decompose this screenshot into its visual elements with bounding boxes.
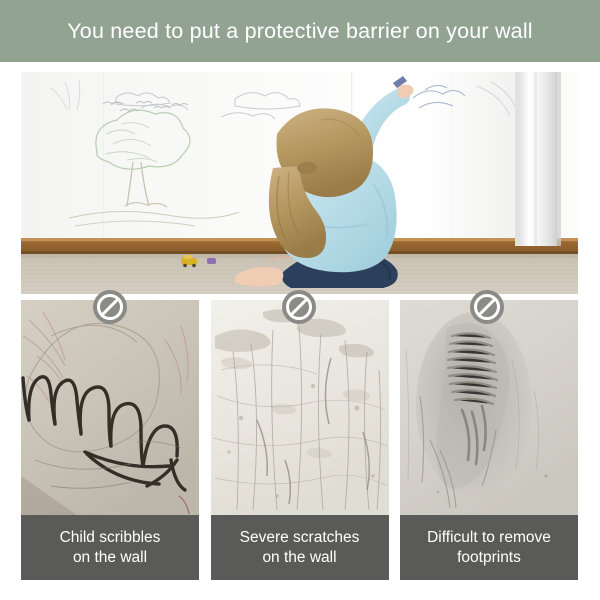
caption-line-1: Child scribbles	[60, 528, 161, 548]
child-scribbles-illustration	[21, 300, 199, 515]
child-drawing-on-wall-illustration	[21, 72, 578, 294]
damage-panel-child-scribbles: Child scribbles on the wall	[21, 300, 199, 580]
severe-scratches-illustration	[211, 300, 389, 515]
caption-line-2: on the wall	[262, 548, 336, 568]
promo-banner: You need to put a protective barrier on …	[0, 0, 600, 600]
caption-line-2: on the wall	[73, 548, 147, 568]
caption-line-1: Difficult to remove	[427, 528, 551, 548]
header-band: You need to put a protective barrier on …	[0, 0, 600, 62]
damage-panels-row: Child scribbles on the wall	[21, 300, 578, 580]
damage-panel-footprints: Difficult to remove footprints	[400, 300, 578, 580]
caption-line-2: footprints	[457, 548, 521, 568]
panel-caption-severe-scratches: Severe scratches on the wall	[211, 515, 389, 580]
page-title: You need to put a protective barrier on …	[67, 19, 533, 44]
child-scribbles-photo	[21, 300, 199, 515]
hero-image	[21, 72, 578, 294]
footprint-mark-photo	[400, 300, 578, 515]
damage-panel-severe-scratches: Severe scratches on the wall	[211, 300, 389, 580]
caption-line-1: Severe scratches	[240, 528, 360, 548]
panel-caption-footprints: Difficult to remove footprints	[400, 515, 578, 580]
panel-caption-child-scribbles: Child scribbles on the wall	[21, 515, 199, 580]
footprint-illustration	[400, 300, 578, 515]
severe-scratches-photo	[211, 300, 389, 515]
